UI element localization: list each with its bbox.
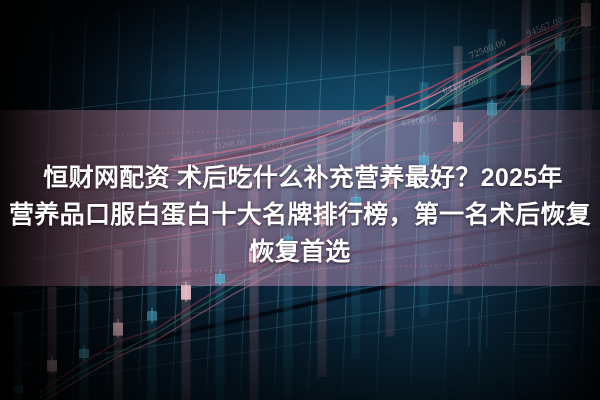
headline-block: 恒财网配资 术后吃什么补充营养最好？2025年 营养品口服白蛋白十大名牌排行榜，… (0, 160, 600, 271)
headline-line-2: 营养品口服白蛋白十大名牌排行榜，第一名术后恢复 (0, 197, 600, 234)
headline-line-1: 恒财网配资 术后吃什么补充营养最好？2025年 (6, 160, 600, 197)
chart-banner: 94567.0072500.0064472.0056723.0067806.00… (0, 0, 600, 400)
headline-line-3: 恢复首选 (0, 234, 600, 271)
